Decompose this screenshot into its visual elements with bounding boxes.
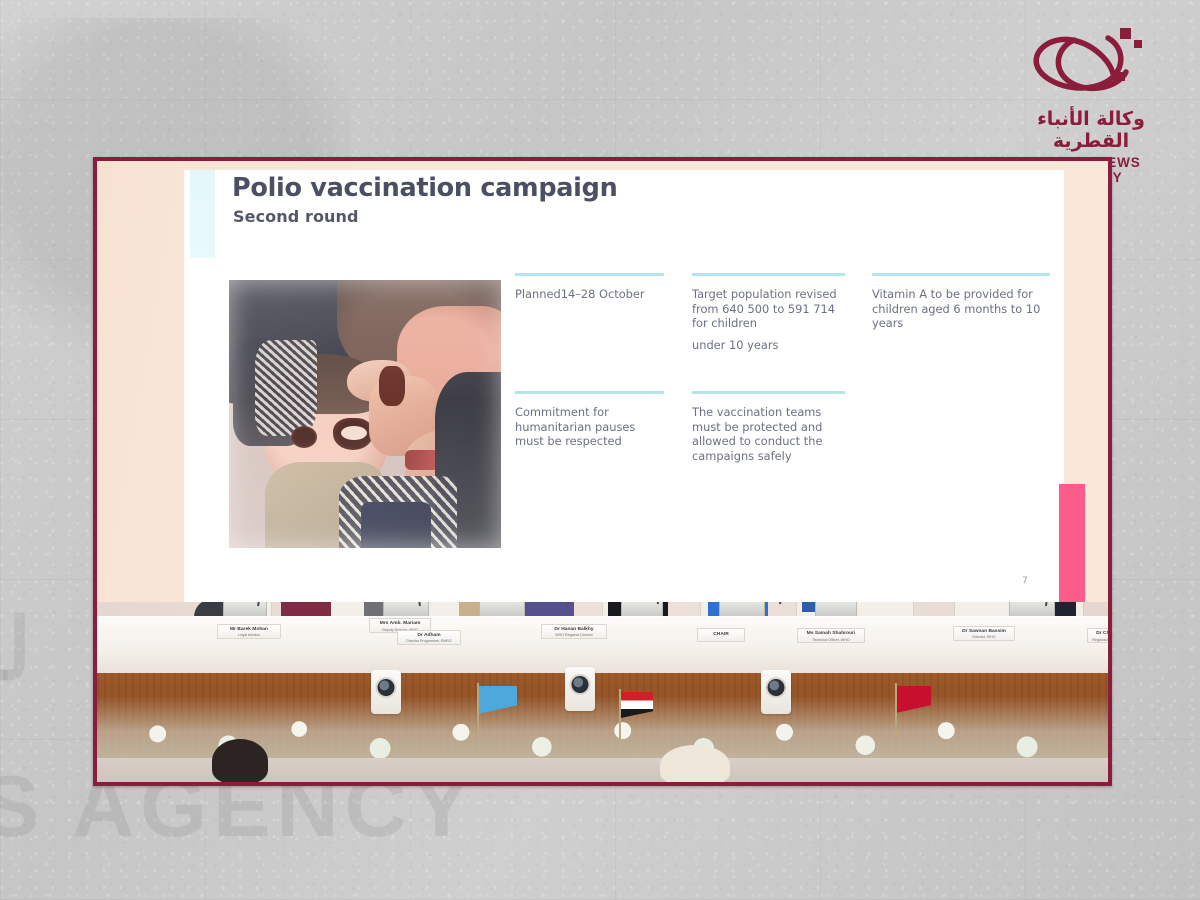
fact-rule — [692, 391, 845, 394]
fact-text: Target population revised from 640 500 t… — [692, 287, 845, 331]
slide-pink-accent-bar — [1059, 484, 1085, 602]
placard-name: CHAIR — [698, 632, 744, 639]
broadcast-camera — [371, 670, 401, 714]
name-placard: Dr Hanan BalkhyWHO Regional Director — [541, 624, 607, 639]
fact-text: Commitment for humanitarian pauses must … — [515, 405, 664, 449]
name-placard: Dr AdhamDirector Programme, EMRO — [397, 630, 461, 645]
slide-title: Polio vaccination campaign — [232, 173, 617, 203]
audience-member — [645, 745, 745, 786]
news-photo-frame: Mr Barek MohanLegal Advisor Mrs Amb. Mar… — [93, 157, 1112, 786]
qna-infinity-atom-logo-icon — [1016, 22, 1166, 106]
placard-role: Regional Emergency Director, WHO — [1088, 638, 1112, 643]
placard-name: Dr Chikwe Ihekweazu — [1088, 631, 1112, 638]
placard-role: WHO Regional Director — [542, 633, 606, 638]
flag-pole — [895, 683, 897, 737]
audience-member — [195, 739, 285, 786]
flag-pole — [619, 689, 621, 739]
name-placard: Ms Samah ShahrouriTechnical Officer, WHO — [797, 628, 865, 643]
vaccination-photo — [229, 280, 501, 548]
placard-name: Dr Sawsan Bassim — [954, 629, 1014, 636]
name-placard-chair: CHAIR — [697, 628, 745, 642]
fact-text: Vitamin A to be provided for children ag… — [872, 287, 1050, 331]
broadcast-camera — [761, 670, 791, 714]
placard-role: Technical Officer, WHO — [798, 638, 864, 643]
fact-rule — [515, 273, 664, 276]
slide-page-number: 7 — [1022, 576, 1028, 586]
slide-cyan-accent-block — [190, 170, 215, 258]
audience-member — [1097, 732, 1112, 786]
flag-pole — [477, 683, 479, 737]
broadcast-camera — [565, 667, 595, 711]
fact-team-protection: The vaccination teams must be protected … — [692, 391, 845, 463]
qatar-news-agency-logo: وكالة الأنباء القطرية QATAR NEWS AGENCY — [1016, 22, 1166, 150]
name-placard: Mr Barek MohanLegal Advisor — [217, 624, 281, 639]
fact-text: Planned14–28 October — [515, 287, 664, 302]
placard-name: Mrs Amb. Mariam — [370, 621, 430, 628]
fact-vitamin-a: Vitamin A to be provided for children ag… — [872, 273, 1050, 331]
name-placard: Dr Sawsan BassimDirector, WHO — [953, 626, 1015, 641]
fact-planned-dates: Planned14–28 October — [515, 273, 664, 302]
background-watermark-text-upper: لـ — [0, 600, 31, 700]
fact-humanitarian-pauses: Commitment for humanitarian pauses must … — [515, 391, 664, 449]
name-placard: Dr Chikwe IhekweazuRegional Emergency Di… — [1087, 628, 1112, 643]
presentation-slide: Polio vaccination campaign Second round — [97, 161, 1108, 602]
fact-target-population: Target population revised from 640 500 t… — [692, 273, 845, 352]
placard-role: Legal Advisor — [218, 633, 280, 638]
placard-name: Mr Barek Mohan — [218, 627, 280, 634]
slide-subtitle: Second round — [233, 207, 359, 226]
placard-role: Director, WHO — [954, 635, 1014, 640]
fact-text: The vaccination teams must be protected … — [692, 405, 845, 463]
fact-rule — [515, 391, 664, 394]
placard-name: Ms Samah Shahrouri — [798, 631, 864, 638]
placard-name: Dr Hanan Balkhy — [542, 627, 606, 634]
fact-rule — [872, 273, 1050, 276]
fact-rule — [692, 273, 845, 276]
logo-arabic-name: وكالة الأنباء القطرية — [1016, 108, 1166, 152]
fact-text-continued: under 10 years — [692, 338, 845, 353]
placard-name: Dr Adham — [398, 633, 460, 640]
placard-role: Director Programme, EMRO — [398, 639, 460, 644]
